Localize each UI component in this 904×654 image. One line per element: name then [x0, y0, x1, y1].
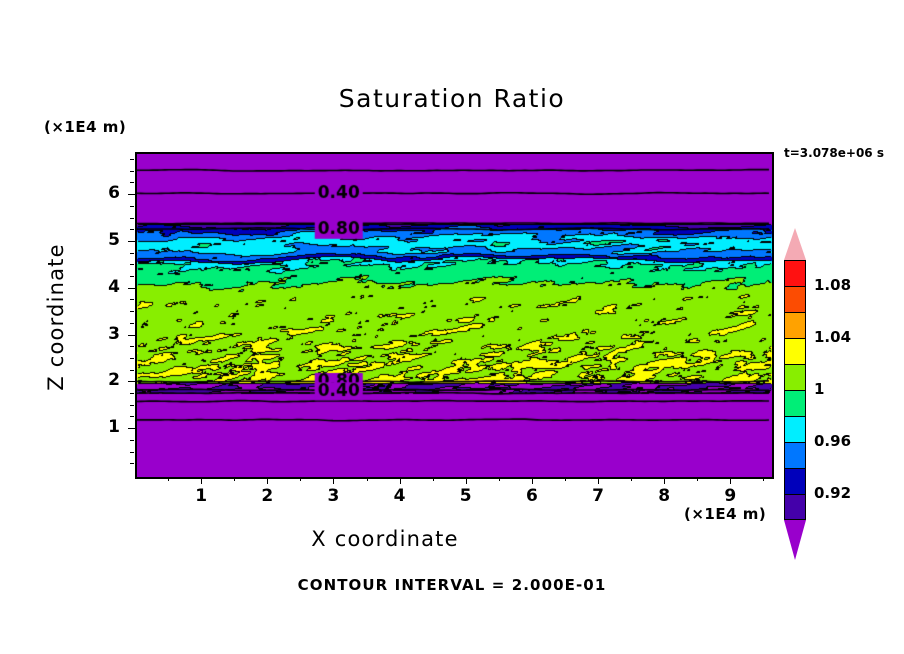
y-tick-minor [130, 405, 134, 406]
y-tick-minor [130, 358, 134, 359]
x-tick-label-8: 8 [644, 486, 684, 506]
y-tick-minor [130, 416, 134, 417]
x-axis-title: X coordinate [0, 527, 770, 551]
y-tick-minor [130, 323, 134, 324]
x-tick-minor [631, 477, 632, 481]
x-tick-6 [532, 477, 533, 484]
y-tick-minor [130, 276, 134, 277]
x-tick-8 [664, 477, 665, 484]
x-tick-minor [763, 477, 764, 481]
y-axis-units-label: (×1E4 m) [44, 118, 126, 136]
y-tick-label-2: 2 [82, 370, 120, 390]
x-tick-label-5: 5 [446, 486, 486, 506]
y-tick-minor [130, 171, 134, 172]
x-tick-minor [433, 477, 434, 481]
saturation-field-canvas [137, 154, 772, 477]
page-title: Saturation Ratio [0, 84, 904, 113]
x-tick-7 [598, 477, 599, 484]
y-tick-2 [128, 381, 135, 382]
y-tick-minor [130, 370, 134, 371]
colorbar-label-1.08: 1.08 [814, 276, 851, 294]
y-tick-label-3: 3 [82, 324, 120, 344]
x-tick-minor [499, 477, 500, 481]
x-tick-label-1: 1 [181, 486, 221, 506]
y-tick-minor [130, 218, 134, 219]
x-tick-4 [400, 477, 401, 484]
y-tick-minor [130, 463, 134, 464]
x-tick-9 [730, 477, 731, 484]
colorbar-label-0.96: 0.96 [814, 432, 851, 450]
x-axis-ticks: 123456789 [135, 477, 770, 517]
y-tick-label-1: 1 [82, 417, 120, 437]
colorbar-label-1.04: 1.04 [814, 328, 851, 346]
y-tick-3 [128, 335, 135, 336]
x-tick-minor [234, 477, 235, 481]
y-axis-title: Z coordinate [44, 217, 68, 417]
x-tick-minor [367, 477, 368, 481]
y-tick-label-4: 4 [82, 277, 120, 297]
x-tick-label-4: 4 [380, 486, 420, 506]
x-tick-2 [267, 477, 268, 484]
x-tick-minor [697, 477, 698, 481]
y-tick-minor [130, 299, 134, 300]
y-tick-label-6: 6 [82, 183, 120, 203]
y-tick-5 [128, 241, 135, 242]
x-tick-5 [466, 477, 467, 484]
x-tick-minor [168, 477, 169, 481]
y-tick-minor [130, 159, 134, 160]
y-tick-minor [130, 311, 134, 312]
y-tick-minor [130, 346, 134, 347]
y-tick-minor [130, 452, 134, 453]
y-tick-1 [128, 428, 135, 429]
contour-interval-caption: CONTOUR INTERVAL = 2.000E-01 [0, 576, 904, 594]
y-tick-label-5: 5 [82, 230, 120, 250]
y-tick-minor [130, 393, 134, 394]
x-tick-label-6: 6 [512, 486, 552, 506]
contour-plot-area [135, 152, 774, 479]
y-tick-4 [128, 288, 135, 289]
x-tick-label-7: 7 [578, 486, 618, 506]
colorbar-label-0.92: 0.92 [814, 484, 851, 502]
x-tick-3 [333, 477, 334, 484]
y-tick-minor [130, 264, 134, 265]
x-tick-minor [565, 477, 566, 481]
y-tick-minor [130, 182, 134, 183]
y-tick-minor [130, 253, 134, 254]
x-tick-minor [300, 477, 301, 481]
x-tick-label-9: 9 [710, 486, 750, 506]
x-tick-label-2: 2 [247, 486, 287, 506]
y-tick-minor [130, 229, 134, 230]
x-tick-label-3: 3 [313, 486, 353, 506]
colorbar-label-1: 1 [814, 380, 824, 398]
y-tick-minor [130, 440, 134, 441]
x-tick-1 [201, 477, 202, 484]
colorbar-labels: 1.081.0410.960.92 [784, 0, 904, 654]
y-tick-6 [128, 194, 135, 195]
y-axis-ticks: 123456 [126, 152, 135, 475]
y-tick-minor [130, 206, 134, 207]
